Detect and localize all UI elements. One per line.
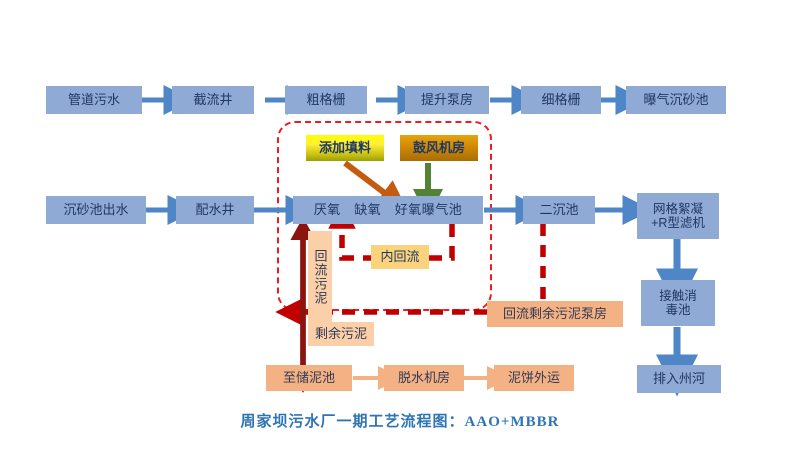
title-text: 周家坝污水厂一期工艺流程图：AAO+MBBR xyxy=(241,414,560,430)
node-label: 曝气沉砂池 xyxy=(643,93,708,108)
node-cake-transport[interactable]: 泥饼外运 xyxy=(494,365,574,391)
flowchart-canvas: 管道污水 截流井 粗格栅 提升泵房 细格栅 曝气沉砂池 添加填料 鼓风机房 沉砂… xyxy=(0,0,800,450)
diagram-title: 周家坝污水厂一期工艺流程图：AAO+MBBR xyxy=(0,410,800,431)
node-label: 添加填料 xyxy=(319,141,371,156)
node-label: 提升泵房 xyxy=(421,93,473,108)
node-mesh-floc-filter[interactable]: 网格絮凝 +R型滤机 xyxy=(637,193,719,239)
node-to-sludge-storage[interactable]: 至储泥池 xyxy=(266,365,352,391)
label-text: 剩余污泥 xyxy=(315,327,367,342)
node-label: 二沉池 xyxy=(539,203,578,218)
label-return-sludge: 回流污泥 xyxy=(308,231,332,323)
node-aerated-grit-chamber[interactable]: 曝气沉砂池 xyxy=(626,86,726,114)
node-fine-screen[interactable]: 细格栅 xyxy=(521,86,601,114)
node-label: 回流剩余污泥泵房 xyxy=(503,307,607,322)
node-label: 至储泥池 xyxy=(283,371,335,386)
node-label: 配水井 xyxy=(195,203,234,218)
node-label: 截流井 xyxy=(193,93,232,108)
node-intercepting-well[interactable]: 截流井 xyxy=(172,86,254,114)
node-coarse-screen[interactable]: 粗格栅 xyxy=(285,86,367,114)
node-lift-pump-house[interactable]: 提升泵房 xyxy=(405,86,489,114)
node-grit-effluent[interactable]: 沉砂池出水 xyxy=(46,196,146,224)
label-text: 内回流 xyxy=(380,250,419,265)
node-dewatering-room[interactable]: 脱水机房 xyxy=(384,365,464,391)
node-label: 泥饼外运 xyxy=(508,371,560,386)
node-distribution-well[interactable]: 配水井 xyxy=(176,196,254,224)
label-internal-recycle: 内回流 xyxy=(371,245,429,269)
node-label: 细格栅 xyxy=(541,93,580,108)
node-pipe-sewage[interactable]: 管道污水 xyxy=(46,86,142,114)
node-label: 脱水机房 xyxy=(398,371,450,386)
node-contact-disinfection-tank[interactable]: 接触消 毒池 xyxy=(641,280,715,326)
node-return-waste-sludge-pump-house[interactable]: 回流剩余污泥泵房 xyxy=(487,301,623,327)
node-add-media[interactable]: 添加填料 xyxy=(306,135,384,161)
node-label: 接触消 毒池 xyxy=(659,289,697,317)
node-label: 排入州河 xyxy=(653,372,705,387)
node-label: 粗格栅 xyxy=(306,93,345,108)
node-label: 沉砂池出水 xyxy=(63,203,128,218)
node-blower-room[interactable]: 鼓风机房 xyxy=(400,135,478,161)
node-secondary-clarifier[interactable]: 二沉池 xyxy=(523,196,595,224)
node-label: 网格絮凝 +R型滤机 xyxy=(651,202,705,230)
node-aao-tank[interactable]: 厌氧 缺氧 好氧曝气池 xyxy=(293,196,483,224)
node-label: 厌氧 缺氧 好氧曝气池 xyxy=(314,203,463,218)
label-waste-sludge: 剩余污泥 xyxy=(308,322,374,346)
node-label: 管道污水 xyxy=(68,93,120,108)
node-discharge-to-river[interactable]: 排入州河 xyxy=(637,365,721,393)
node-label: 鼓风机房 xyxy=(413,141,465,156)
label-text: 回流污泥 xyxy=(311,249,330,305)
